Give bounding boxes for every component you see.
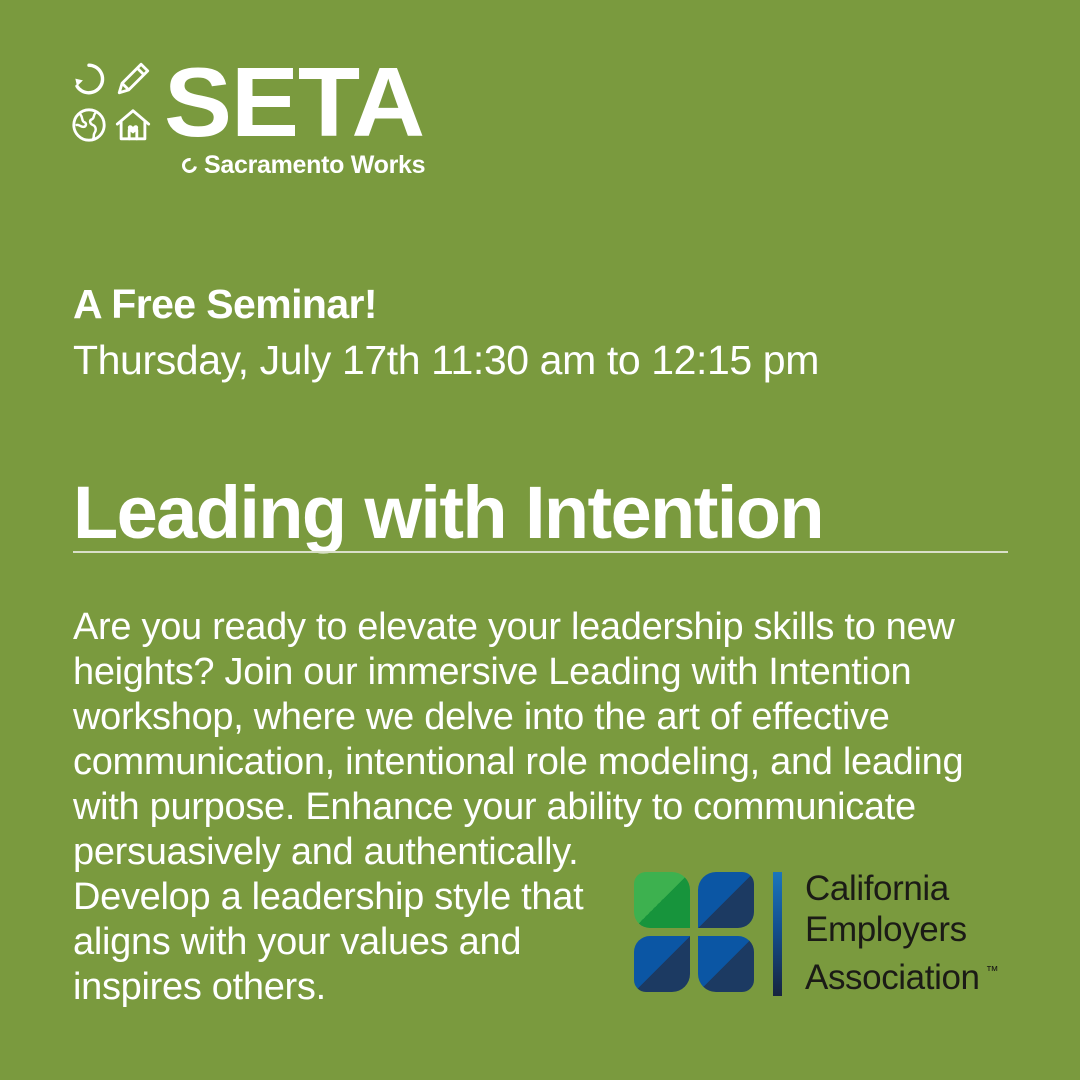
sacramento-works-circle-icon (179, 155, 200, 176)
cea-line-2: Employers (805, 909, 999, 950)
cea-line-3: Association™ (805, 950, 999, 998)
description-paragraph-1: Are you ready to elevate your leadership… (73, 605, 973, 875)
event-datetime: Thursday, July 17th 11:30 am to 12:15 pm (73, 336, 819, 384)
seta-wordmark: SETA (164, 52, 424, 152)
globe-icon (70, 106, 108, 144)
trademark-symbol: ™ (986, 963, 999, 978)
seta-icon-grid (70, 60, 152, 146)
cea-line-1: California (805, 868, 999, 909)
description-paragraph-2: Develop a leadership style that aligns w… (73, 875, 633, 1010)
seta-tagline: Sacramento Works (182, 152, 425, 178)
pencil-icon (114, 60, 152, 98)
page-title: Leading with Intention (73, 470, 823, 556)
california-employers-association-logo: California Employers Association™ (630, 868, 1010, 1000)
seminar-flyer: SETA Sacramento Works A Free Seminar! Th… (0, 0, 1080, 1080)
cea-line-3-text: Association (805, 958, 980, 997)
refresh-arrow-icon (70, 60, 108, 98)
horizontal-divider (73, 551, 1008, 553)
seta-tagline-text: Sacramento Works (204, 152, 425, 178)
cea-wordmark: California Employers Association™ (805, 868, 999, 998)
seta-logo: SETA Sacramento Works (70, 52, 440, 172)
cea-pinwheel-icon (630, 868, 758, 996)
event-kicker: A Free Seminar! (73, 281, 377, 327)
house-heart-icon (114, 106, 152, 144)
cea-divider-bar (773, 872, 782, 996)
